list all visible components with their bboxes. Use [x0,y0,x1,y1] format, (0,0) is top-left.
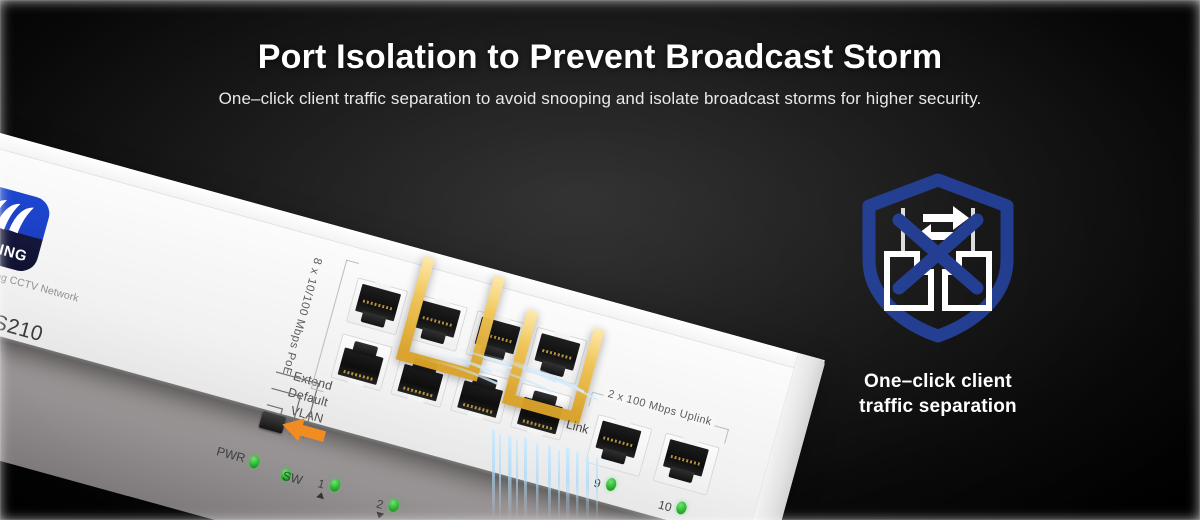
feature-caption-line-1: One–click client [840,369,1036,394]
poe-port-6[interactable] [450,366,512,424]
poe-port-1[interactable] [346,277,408,335]
shield-port-isolation-icon [849,168,1027,346]
page-title: Port Isolation to Prevent Broadcast Stor… [0,38,1200,77]
logo-wave-glyph [0,193,42,241]
wking-waves-logo-icon: WKING [0,181,53,274]
poe-group-caption: 8 x 10/100 Mbps PoE [280,256,324,376]
feature-caption: One–click client traffic separation [840,369,1036,419]
uplink-port-10[interactable] [653,433,720,496]
feature-callout: One–click client traffic separation [840,168,1036,419]
feature-caption-line-2: traffic separation [840,394,1036,419]
port-led-10 [675,500,688,515]
brand-logo-block: WKING Simplifying CCTV Network [0,181,94,302]
port-number-10: 10 [657,498,674,515]
product-feature-banner: Port Isolation to Prevent Broadcast Stor… [0,0,1200,520]
port-number-9: 9 [592,476,602,491]
port-led-9 [605,477,618,492]
page-subtitle: One–click client traffic separation to a… [0,89,1200,109]
uplink-port-9[interactable] [585,414,652,477]
